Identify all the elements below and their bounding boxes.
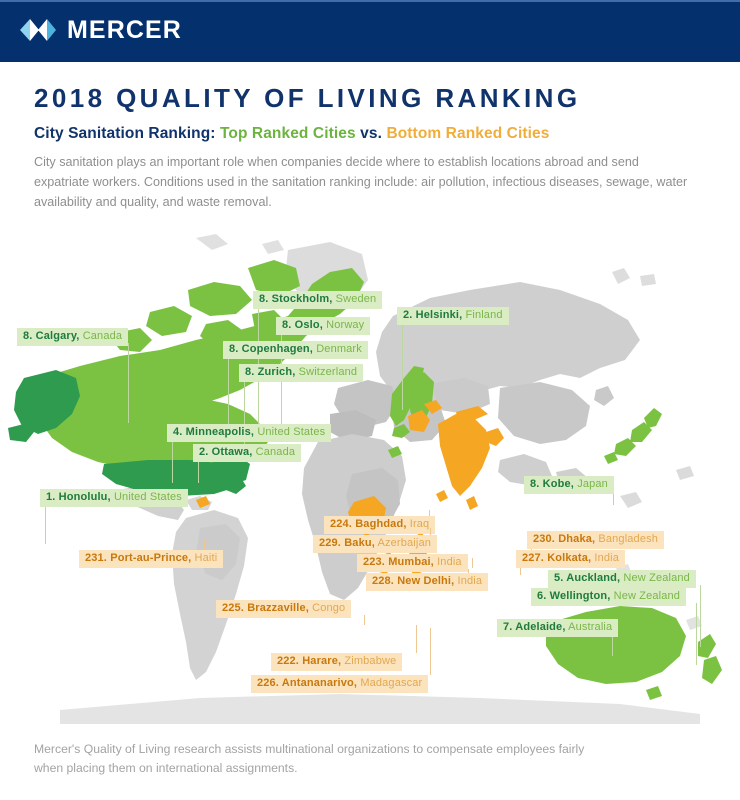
map-label-baghdad[interactable]: 224. Baghdad, Iraq [324, 516, 435, 534]
subtitle-bottom-ranked: Bottom Ranked Cities [386, 125, 549, 142]
map-label-city-brazzaville: 225. Brazzaville, [222, 602, 309, 614]
map-label-country-oslo: Norway [323, 319, 364, 331]
map-label-city-kolkata: 227. Kolkata, [522, 552, 591, 564]
map-label-country-helsinki: Finland [462, 309, 502, 321]
map-label-country-wellington: New Zealand [610, 590, 680, 602]
map-label-portauprince[interactable]: 231. Port-au-Prince, Haiti [79, 550, 223, 568]
map-label-country-adelaide: Australia [566, 621, 613, 633]
map-label-city-mumbai: 223. Mumbai, [363, 556, 434, 568]
map-label-copenhagen[interactable]: 8. Copenhagen, Denmark [223, 341, 368, 359]
map-label-country-calgary: Canada [79, 330, 122, 342]
leader-line-adelaide [612, 634, 613, 656]
map-label-newdelhi[interactable]: 228. New Delhi, India [366, 573, 488, 591]
map-label-wellington[interactable]: 6. Wellington, New Zealand [531, 588, 686, 606]
map-label-city-dhaka: 230. Dhaka, [533, 533, 595, 545]
leader-line-helsinki [402, 322, 403, 410]
map-label-kobe[interactable]: 8. Kobe, Japan [524, 476, 614, 494]
map-label-city-stockholm: 8. Stockholm, [259, 293, 332, 305]
map-label-city-baghdad: 224. Baghdad, [330, 518, 407, 530]
map-label-city-helsinki: 2. Helsinki, [403, 309, 462, 321]
map-label-city-harare: 222. Harare, [277, 655, 341, 667]
map-label-country-ottawa: Canada [252, 446, 295, 458]
map-label-city-calgary: 8. Calgary, [23, 330, 79, 342]
map-label-country-minneapolis: United States [254, 426, 325, 438]
map-label-city-minneapolis: 4. Minneapolis, [173, 426, 254, 438]
map-label-city-auckland: 5. Auckland, [554, 572, 620, 584]
map-label-ottawa[interactable]: 2. Ottawa, Canada [193, 444, 301, 462]
map-label-honolulu[interactable]: 1. Honolulu, United States [40, 489, 188, 507]
leader-line-antananarivo [430, 628, 431, 675]
map-label-baku[interactable]: 229. Baku, Azerbaijan [313, 535, 437, 553]
intro-paragraph: City sanitation plays an important role … [34, 152, 694, 212]
map-label-calgary[interactable]: 8. Calgary, Canada [17, 328, 128, 346]
map-label-city-adelaide: 7. Adelaide, [503, 621, 566, 633]
leader-line-newdelhi [472, 558, 473, 568]
map-label-country-honolulu: United States [111, 491, 182, 503]
leader-line-calgary [128, 343, 129, 423]
map-label-city-baku: 229. Baku, [319, 537, 375, 549]
map-label-mumbai[interactable]: 223. Mumbai, India [357, 554, 468, 572]
map-label-brazzaville[interactable]: 225. Brazzaville, Congo [216, 600, 351, 618]
map-label-helsinki[interactable]: 2. Helsinki, Finland [397, 307, 509, 325]
brand-name: MERCER [67, 16, 182, 44]
leader-line-honolulu [45, 504, 46, 544]
map-label-country-stockholm: Sweden [332, 293, 376, 305]
map-label-dhaka[interactable]: 230. Dhaka, Bangladesh [527, 531, 664, 549]
leader-line-ottawa [198, 459, 199, 483]
map-label-city-kobe: 8. Kobe, [530, 478, 574, 490]
map-label-city-honolulu: 1. Honolulu, [46, 491, 111, 503]
subtitle-vs: vs. [360, 125, 382, 142]
map-label-zurich[interactable]: 8. Zurich, Switzerland [239, 364, 363, 382]
map-landmasses-antarctica [60, 694, 700, 724]
leader-line-harare [416, 625, 417, 653]
leader-line-wellington [696, 603, 697, 665]
mercer-diamond-logo-icon [18, 16, 58, 44]
brand-logo[interactable]: MERCER [18, 16, 182, 44]
map-label-city-portauprince: 231. Port-au-Prince, [85, 552, 191, 564]
map-label-antananarivo[interactable]: 226. Antananarivo, Madagascar [251, 675, 428, 693]
map-label-country-zurich: Switzerland [295, 366, 357, 378]
leader-line-auckland [700, 585, 701, 647]
page-subtitle: City Sanitation Ranking: Top Ranked Citi… [34, 125, 550, 143]
map-label-country-baghdad: Iraq [407, 518, 430, 530]
page-header: MERCER [0, 0, 740, 62]
map-label-country-antananarivo: Madagascar [357, 677, 422, 689]
map-label-oslo[interactable]: 8. Oslo, Norway [276, 317, 370, 335]
map-label-country-kobe: Japan [574, 478, 608, 490]
map-label-harare[interactable]: 222. Harare, Zimbabwe [271, 653, 402, 671]
map-label-country-newdelhi: India [454, 575, 482, 587]
map-label-auckland[interactable]: 5. Auckland, New Zealand [548, 570, 696, 588]
map-label-country-copenhagen: Denmark [313, 343, 362, 355]
subtitle-lead: City Sanitation Ranking: [34, 125, 216, 142]
map-label-country-baku: Azerbaijan [375, 537, 431, 549]
map-label-country-kolkata: India [591, 552, 619, 564]
page-title: 2018 QUALITY OF LIVING RANKING [34, 83, 580, 114]
map-label-city-wellington: 6. Wellington, [537, 590, 610, 602]
map-label-stockholm[interactable]: 8. Stockholm, Sweden [253, 291, 382, 309]
map-label-city-newdelhi: 228. New Delhi, [372, 575, 454, 587]
map-label-city-copenhagen: 8. Copenhagen, [229, 343, 313, 355]
footer-note: Mercer's Quality of Living research assi… [34, 740, 594, 778]
map-label-city-ottawa: 2. Ottawa, [199, 446, 252, 458]
map-label-country-auckland: New Zealand [620, 572, 690, 584]
map-label-kolkata[interactable]: 227. Kolkata, India [516, 550, 625, 568]
map-label-city-oslo: 8. Oslo, [282, 319, 323, 331]
map-label-city-antananarivo: 226. Antananarivo, [257, 677, 357, 689]
map-label-country-brazzaville: Congo [309, 602, 345, 614]
header-top-accent-line [0, 0, 740, 2]
subtitle-top-ranked: Top Ranked Cities [220, 125, 356, 142]
map-label-adelaide[interactable]: 7. Adelaide, Australia [497, 619, 618, 637]
map-label-country-harare: Zimbabwe [341, 655, 396, 667]
map-label-city-zurich: 8. Zurich, [245, 366, 295, 378]
leader-line-minneapolis [172, 439, 173, 483]
map-label-minneapolis[interactable]: 4. Minneapolis, United States [167, 424, 331, 442]
map-label-country-portauprince: Haiti [191, 552, 217, 564]
map-label-country-dhaka: Bangladesh [595, 533, 658, 545]
map-label-country-mumbai: India [434, 556, 462, 568]
leader-line-brazzaville [364, 615, 365, 625]
